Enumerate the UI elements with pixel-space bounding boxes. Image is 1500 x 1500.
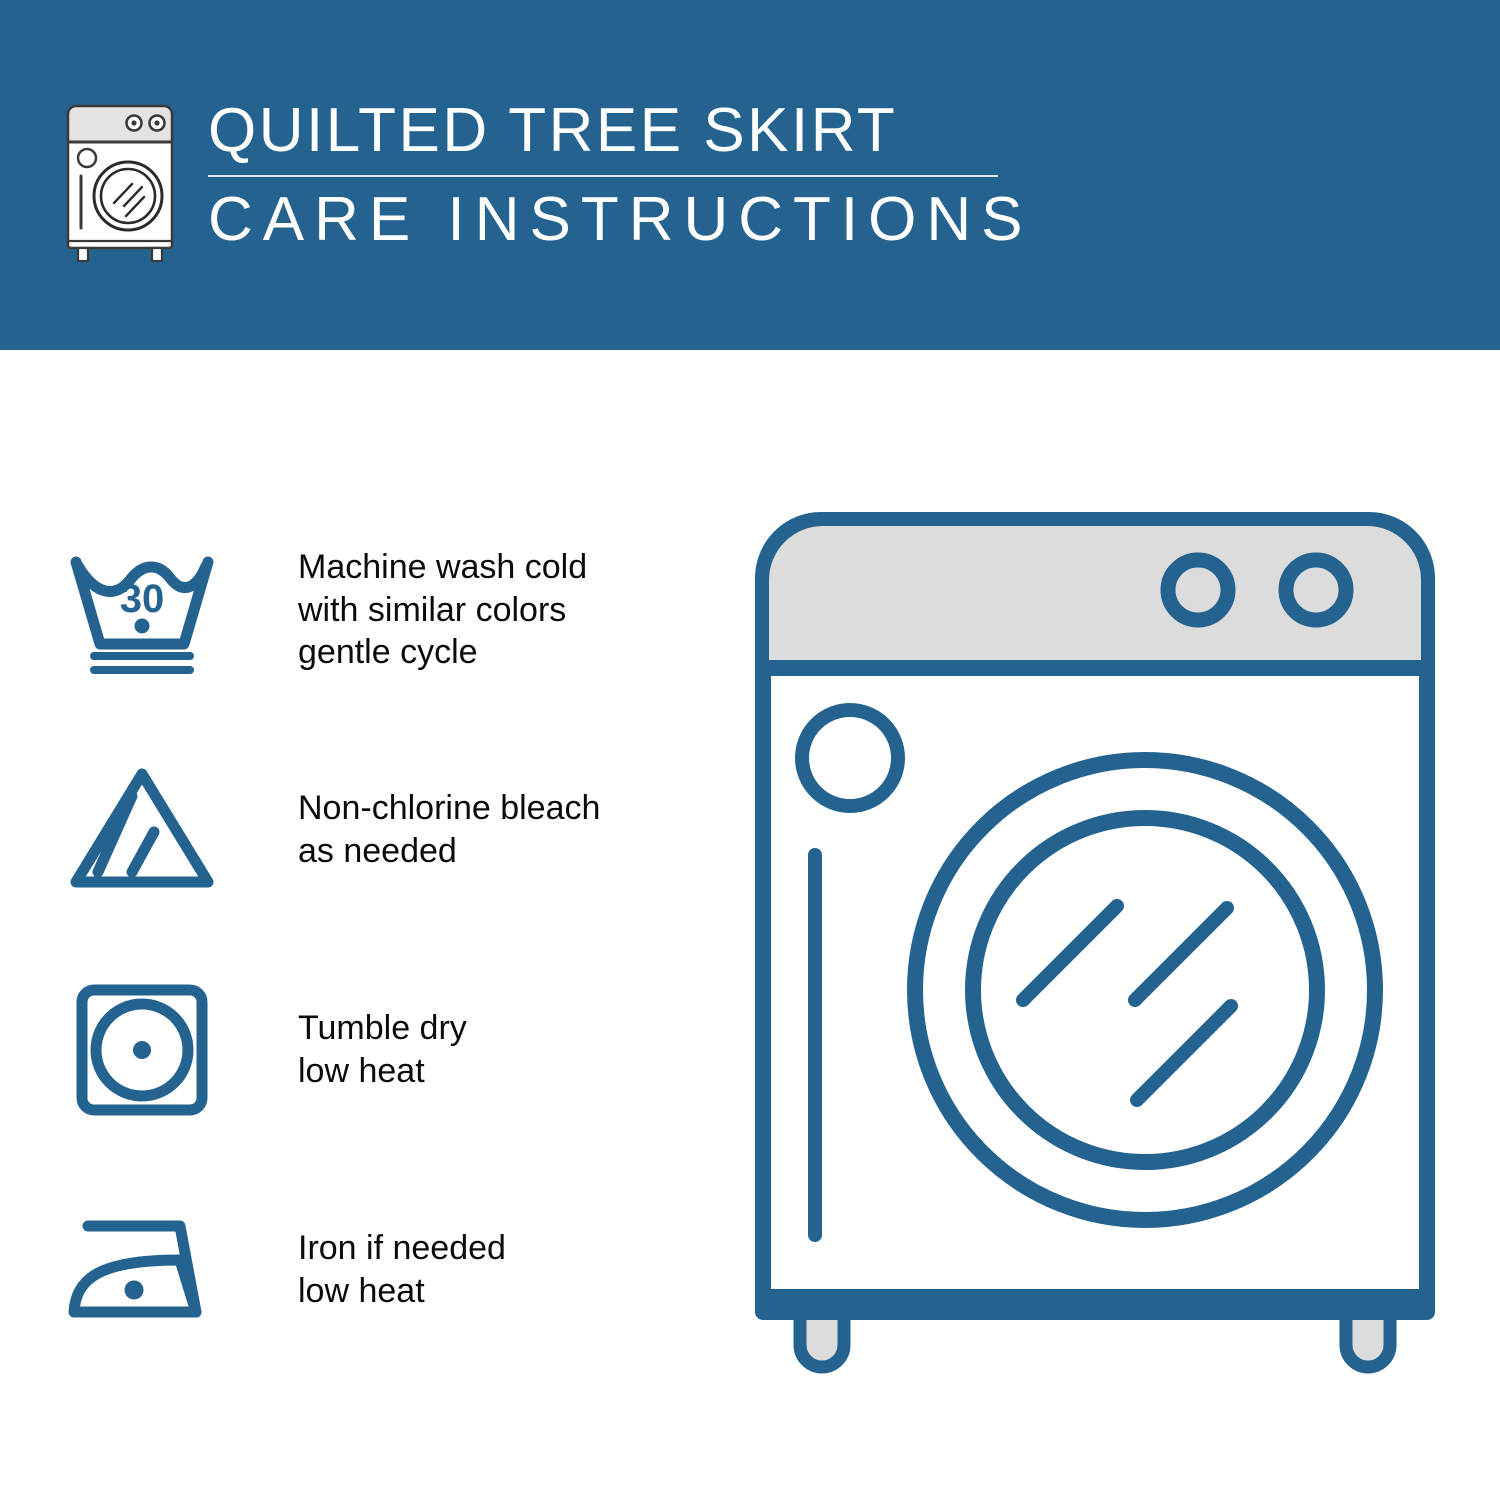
care-text-machine-wash: Machine wash cold with similar colors ge… xyxy=(298,546,587,674)
care-text-tumble-dry: Tumble dry low heat xyxy=(298,1007,467,1093)
page-title: QUILTED TREE SKIRT xyxy=(208,100,1032,162)
washing-machine-icon xyxy=(62,96,186,264)
title-divider xyxy=(208,175,998,177)
iron-low-heat-symbol xyxy=(62,1200,232,1340)
care-text-bleach: Non-chlorine bleach as needed xyxy=(298,787,600,873)
header-titles: QUILTED TREE SKIRT CARE INSTRUCTIONS xyxy=(208,96,1032,251)
care-row-tumble-dry: Tumble dry low heat xyxy=(62,940,702,1160)
tumble-dry-low-symbol xyxy=(62,980,232,1120)
care-text-iron: Iron if needed low heat xyxy=(298,1227,506,1313)
section-subtitle: CARE INSTRUCTIONS xyxy=(208,189,1032,251)
header-content: QUILTED TREE SKIRT CARE INSTRUCTIONS xyxy=(62,96,1032,264)
washer-control-panel xyxy=(769,526,1421,664)
header-banner: QUILTED TREE SKIRT CARE INSTRUCTIONS xyxy=(0,0,1500,350)
front-load-washing-machine-illustration xyxy=(745,500,1445,1410)
machine-wash-30-gentle-symbol: 30 xyxy=(62,540,232,680)
care-instruction-list: 30 Machine wash cold with similar colors… xyxy=(62,500,702,1380)
care-row-machine-wash: 30 Machine wash cold with similar colors… xyxy=(62,500,702,720)
care-row-iron: Iron if needed low heat xyxy=(62,1160,702,1380)
non-chlorine-bleach-symbol xyxy=(62,760,232,900)
wash-temperature-label: 30 xyxy=(120,577,165,621)
care-row-bleach: Non-chlorine bleach as needed xyxy=(62,720,702,940)
